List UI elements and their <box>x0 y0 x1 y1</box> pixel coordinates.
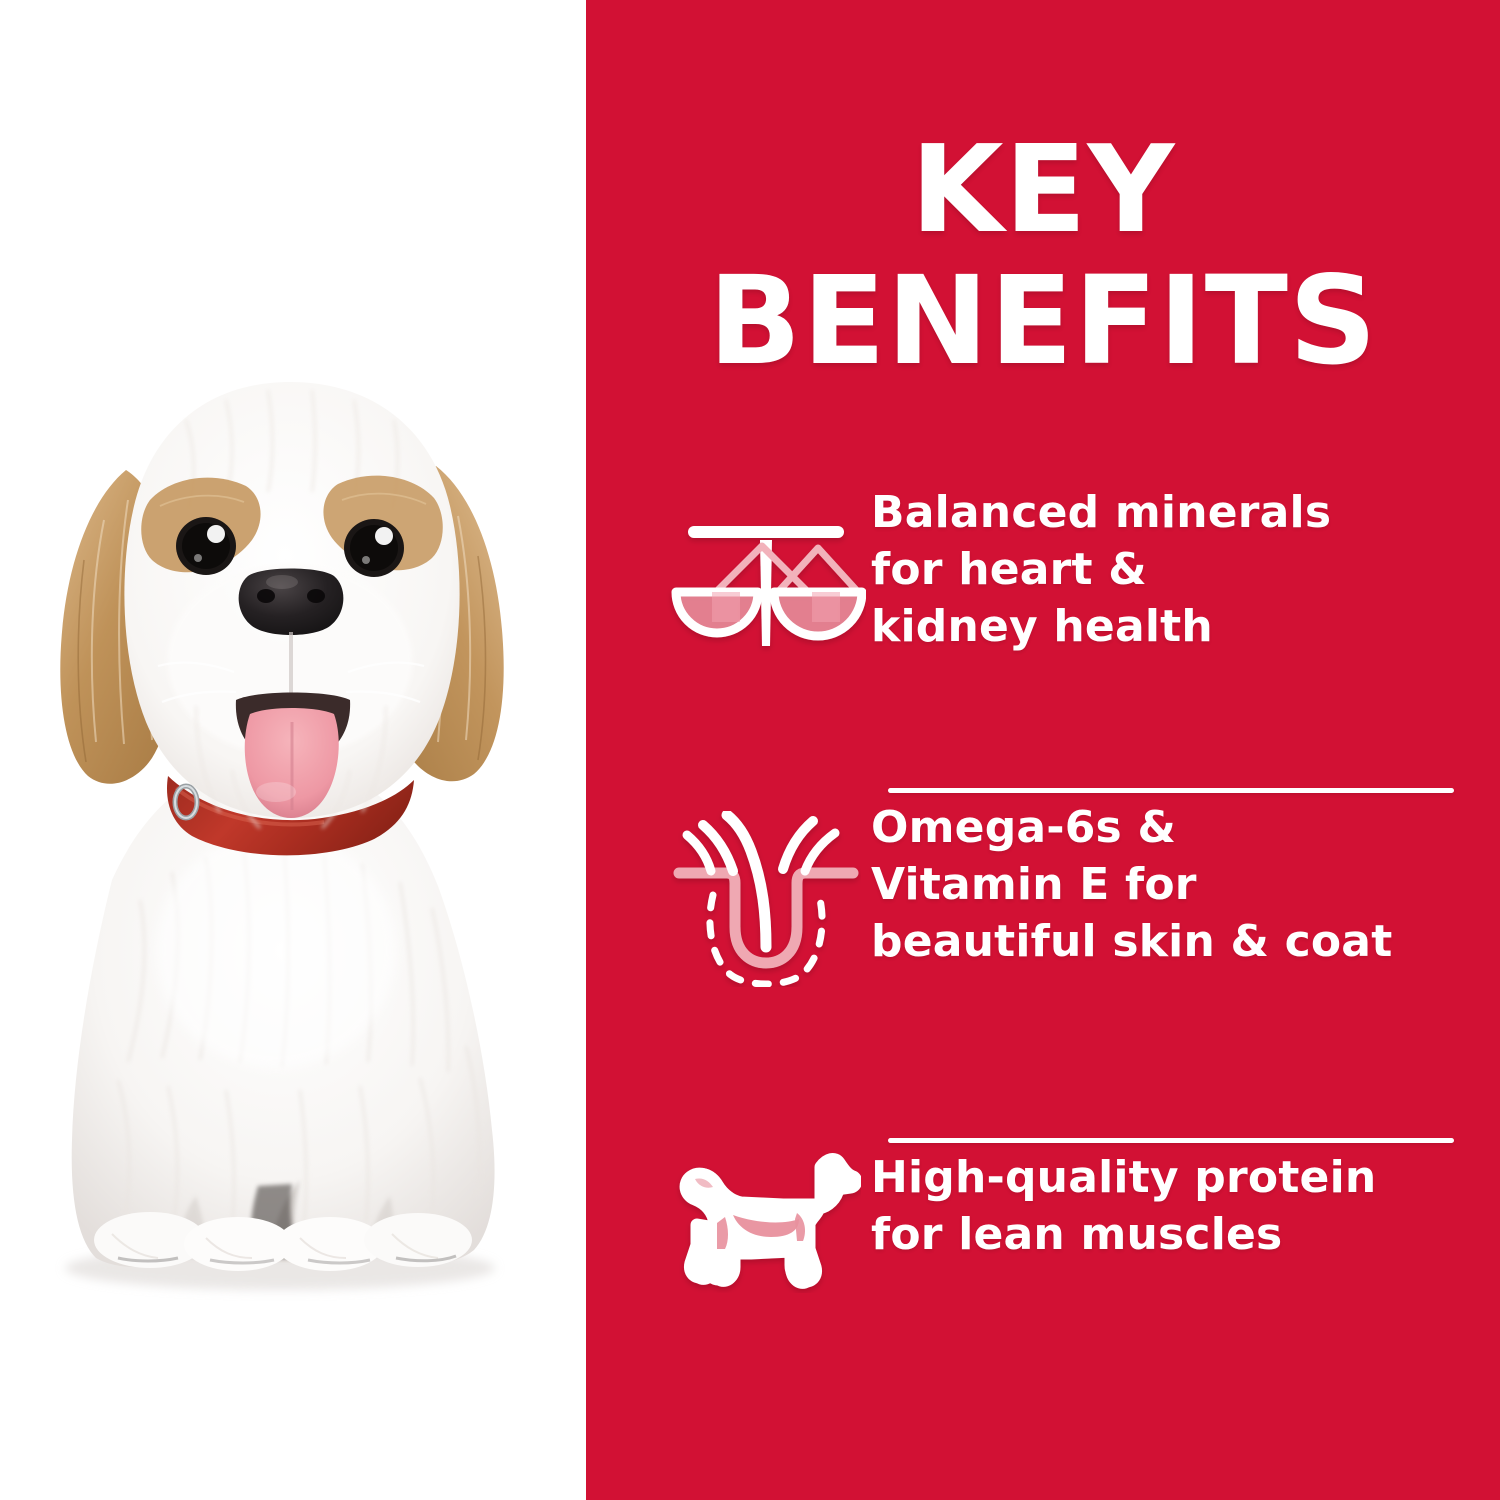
title-line-1: KEY <box>586 126 1500 256</box>
benefit-1-line-3: kidney health <box>871 598 1460 655</box>
page-title: KEY BENEFITS <box>586 126 1500 387</box>
benefit-2-line-1: Omega-6s & <box>871 799 1460 856</box>
title-line-2: BENEFITS <box>586 256 1500 388</box>
dog-silhouette-icon <box>661 1143 871 1293</box>
dog-photo-panel <box>0 0 586 1500</box>
benefits-list: Balanced minerals for heart & kidney hea… <box>586 478 1500 1403</box>
benefit-text-balanced-minerals: Balanced minerals for heart & kidney hea… <box>871 478 1460 656</box>
dog-photograph <box>0 0 586 1500</box>
benefit-item-omega-vitamin-e: Omega-6s & Vitamin E for beautiful skin … <box>586 793 1500 1138</box>
benefits-panel: KEY BENEFITS <box>586 0 1500 1500</box>
benefit-3-line-2: for lean muscles <box>871 1206 1460 1263</box>
dog-nose <box>239 569 344 636</box>
benefit-3-line-1: High-quality protein <box>871 1149 1460 1206</box>
benefit-2-line-2: Vitamin E for <box>871 856 1460 913</box>
benefit-item-balanced-minerals: Balanced minerals for heart & kidney hea… <box>586 478 1500 788</box>
benefit-text-high-quality-protein: High-quality protein for lean muscles <box>871 1143 1460 1263</box>
hair-follicle-icon <box>661 793 871 987</box>
benefit-1-line-1: Balanced minerals <box>871 484 1460 541</box>
benefit-text-omega-vitamin-e: Omega-6s & Vitamin E for beautiful skin … <box>871 793 1460 971</box>
balance-scale-icon <box>661 478 871 664</box>
benefit-item-high-quality-protein: High-quality protein for lean muscles <box>586 1143 1500 1403</box>
benefit-1-line-2: for heart & <box>871 541 1460 598</box>
benefit-2-line-3: beautiful skin & coat <box>871 913 1460 970</box>
key-benefits-page: KEY BENEFITS <box>0 0 1500 1500</box>
